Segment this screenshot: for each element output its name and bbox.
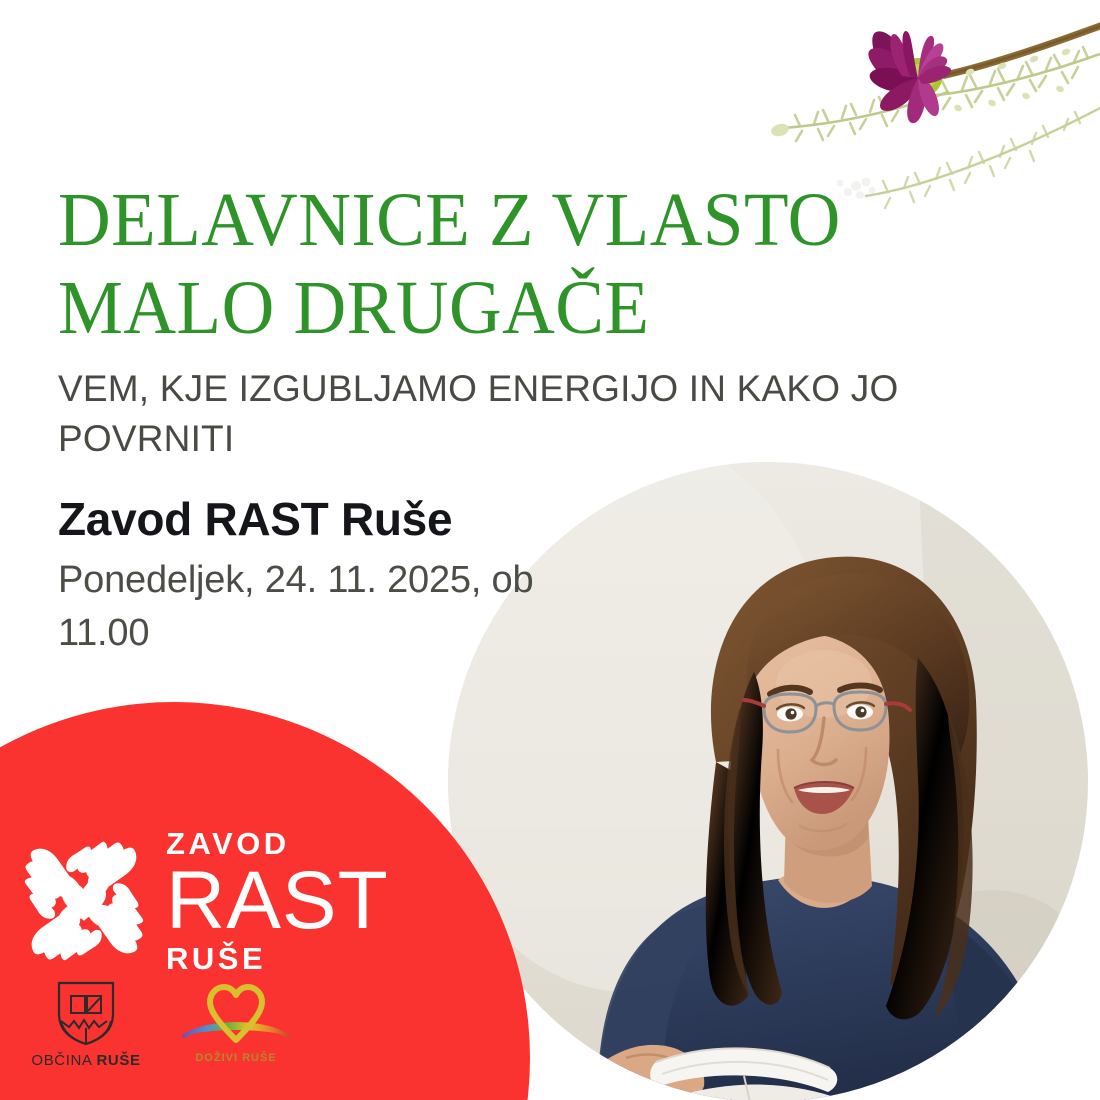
partner-dozivi-ruse: DOŽIVI RUŠE bbox=[166, 982, 306, 1064]
headline: DELAVNICE Z VLASTO MALO DRUGAČE bbox=[58, 176, 958, 352]
rast-ruse-text: RUŠE bbox=[166, 942, 389, 976]
obcina-label-bold: RUŠE bbox=[97, 1052, 141, 1069]
rast-main-text: RAST bbox=[166, 860, 389, 942]
rast-wordmark: ZAVOD RAST RUŠE bbox=[166, 827, 389, 976]
event-organizer: Zavod RAST Ruše bbox=[58, 490, 578, 548]
heart-rainbow-icon bbox=[180, 982, 292, 1052]
poster-canvas: DELAVNICE Z VLASTO MALO DRUGAČE VEM, KJE… bbox=[0, 0, 1100, 1100]
obcina-label: OBČINA RUŠE bbox=[26, 1052, 146, 1069]
coat-of-arms-icon bbox=[55, 980, 117, 1046]
event-details: Zavod RAST Ruše Ponedeljek, 24. 11. 2025… bbox=[58, 490, 578, 660]
partner-logos: OBČINA RUŠE bbox=[26, 980, 326, 1090]
headline-line-1: DELAVNICE Z VLASTO bbox=[58, 176, 922, 264]
dozivi-label: DOŽIVI RUŠE bbox=[166, 1052, 306, 1064]
four-hands-heart-icon bbox=[18, 835, 150, 967]
subtitle: VEM, KJE IZGUBLJAMO ENERGIJO IN KAKO JO … bbox=[58, 364, 988, 464]
rast-logo: ZAVOD RAST RUŠE bbox=[18, 828, 408, 974]
event-datetime: Ponedeljek, 24. 11. 2025, ob 11.00 bbox=[58, 554, 578, 660]
partner-obcina-ruse: OBČINA RUŠE bbox=[26, 980, 146, 1069]
obcina-label-regular: OBČINA bbox=[31, 1052, 91, 1069]
headline-line-2: MALO DRUGAČE bbox=[58, 264, 922, 352]
